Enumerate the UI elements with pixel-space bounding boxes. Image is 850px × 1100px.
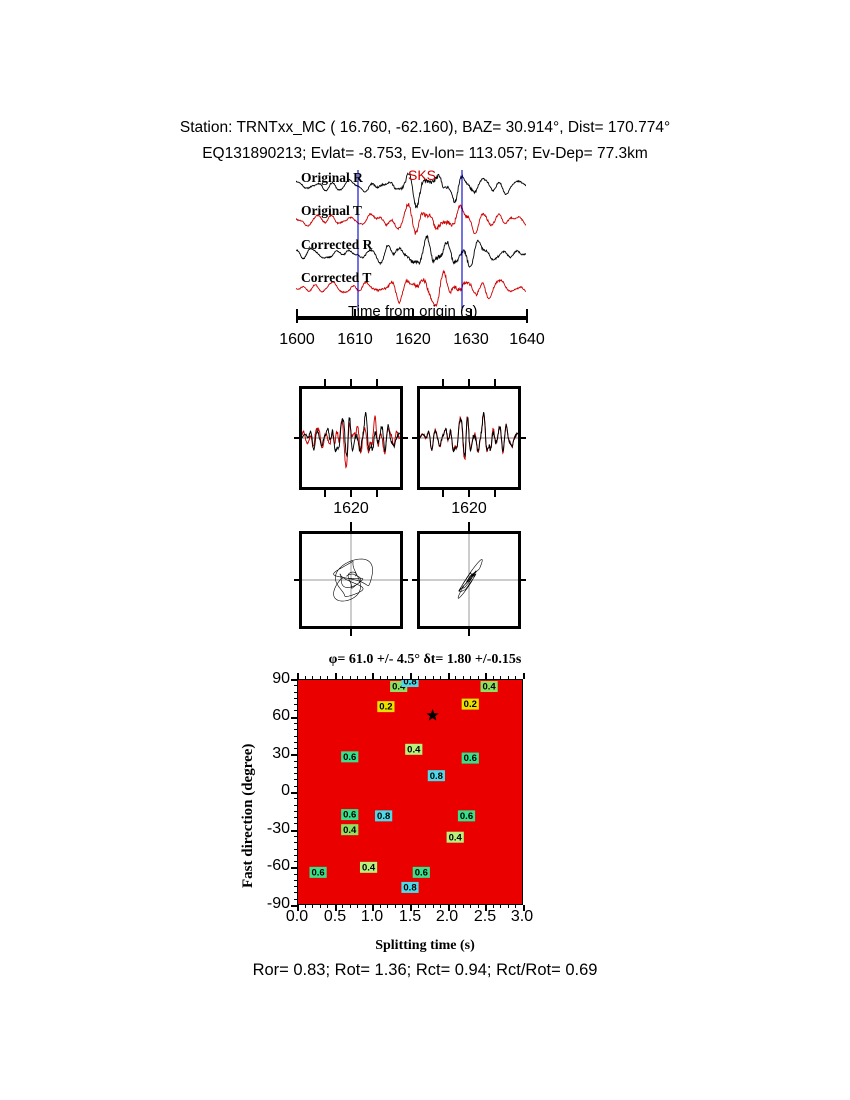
contour-axis-tick bbox=[433, 905, 434, 908]
contour-axis-tick bbox=[448, 905, 449, 908]
contour-axis-tick bbox=[294, 874, 297, 875]
time-axis-title: Time from origin (s) bbox=[348, 303, 477, 320]
panel-tick bbox=[519, 579, 526, 581]
trace-label-original-r: Original R bbox=[301, 170, 363, 186]
contour-axis-tick bbox=[335, 676, 336, 679]
xtick-30: 3.0 bbox=[500, 908, 544, 926]
contour-axis-tick bbox=[425, 905, 426, 908]
contour-axis-tick bbox=[294, 867, 297, 868]
panel-tick bbox=[324, 379, 326, 386]
splitting-analysis-figure: Station: TRNTxx_MC ( 16.760, -62.160), B… bbox=[0, 0, 850, 1100]
contour-axis-tick bbox=[485, 905, 486, 908]
panel-tick bbox=[376, 379, 378, 386]
contour-axis-tick bbox=[294, 830, 297, 831]
panel-tick bbox=[401, 579, 408, 581]
ytick-30: 30 bbox=[244, 745, 290, 763]
contour-axis-tick bbox=[320, 676, 321, 679]
contour-axis-tick bbox=[335, 905, 336, 908]
contour-axis-tick bbox=[463, 676, 464, 679]
contour-axis-tick bbox=[342, 905, 343, 908]
time-tick-1630: 1630 bbox=[447, 331, 495, 349]
contour-axis-tick bbox=[312, 676, 313, 679]
panel-tick bbox=[468, 524, 470, 531]
contour-axis-tick bbox=[493, 676, 494, 679]
contour-axis-tick bbox=[455, 676, 456, 679]
compare-label-right: 1620 bbox=[444, 500, 494, 518]
panel-tick bbox=[324, 490, 326, 497]
contour-axis-tick bbox=[357, 676, 358, 679]
panel-tick bbox=[350, 524, 352, 531]
contour-axis-tick bbox=[440, 676, 441, 679]
time-tick-1610: 1610 bbox=[331, 331, 379, 349]
panel-tick bbox=[294, 579, 301, 581]
contour-axis-tick bbox=[297, 905, 298, 908]
contour-axis-tick bbox=[294, 723, 297, 724]
station-info-line: Station: TRNTxx_MC ( 16.760, -62.160), B… bbox=[0, 119, 850, 137]
contour-axis-tick bbox=[294, 811, 297, 812]
trace-label-corrected-t: Corrected T bbox=[301, 270, 371, 286]
panel-tick bbox=[376, 490, 378, 497]
contour-axis-tick bbox=[515, 676, 516, 679]
contour-axis-tick bbox=[478, 676, 479, 679]
panel-tick bbox=[350, 629, 352, 636]
particle-motion-panel-left bbox=[299, 531, 403, 629]
sks-phase-label: SKS bbox=[408, 167, 436, 183]
contour-plot bbox=[297, 679, 523, 905]
compare-traces-right bbox=[420, 389, 518, 487]
panel-tick bbox=[350, 379, 352, 386]
panel-tick bbox=[442, 379, 444, 386]
contour-axis-tick bbox=[294, 779, 297, 780]
contour-axis-tick bbox=[305, 905, 306, 908]
contour-axis-tick bbox=[294, 805, 297, 806]
contour-surface bbox=[297, 679, 523, 905]
contour-axis-tick bbox=[387, 905, 388, 908]
contour-axis-tick bbox=[297, 676, 298, 679]
particle-motion-left bbox=[302, 534, 400, 626]
contour-axis-tick bbox=[380, 676, 381, 679]
contour-axis-tick bbox=[365, 676, 366, 679]
contour-axis-tick bbox=[380, 905, 381, 908]
compare-panel-right bbox=[417, 386, 521, 490]
contour-axis-tick bbox=[350, 905, 351, 908]
contour-axis-tick bbox=[294, 679, 297, 680]
contour-axis-tick bbox=[448, 676, 449, 679]
panel-tick bbox=[468, 379, 470, 386]
contour-axis-tick bbox=[440, 905, 441, 908]
ytick-neg60: -60 bbox=[244, 857, 290, 875]
particle-motion-panel-right bbox=[417, 531, 521, 629]
compare-panel-left bbox=[299, 386, 403, 490]
contour-axis-tick bbox=[294, 836, 297, 837]
panel-tick bbox=[412, 437, 419, 439]
panel-tick bbox=[468, 490, 470, 497]
panel-tick bbox=[494, 490, 496, 497]
contour-axis-tick bbox=[500, 676, 501, 679]
contour-axis-tick bbox=[294, 710, 297, 711]
contour-axis-tick bbox=[294, 685, 297, 686]
contour-axis-tick bbox=[372, 905, 373, 908]
contour-axis-tick bbox=[485, 676, 486, 679]
contour-axis-tick bbox=[294, 861, 297, 862]
contour-axis-tick bbox=[463, 905, 464, 908]
panel-tick bbox=[401, 437, 408, 439]
contour-axis-tick bbox=[327, 676, 328, 679]
panel-tick bbox=[494, 379, 496, 386]
contour-axis-tick bbox=[294, 817, 297, 818]
contour-axis-tick bbox=[418, 905, 419, 908]
contour-axis-tick bbox=[294, 849, 297, 850]
contour-axis-tick bbox=[410, 676, 411, 679]
contour-axis-tick bbox=[523, 905, 524, 908]
contour-axis-tick bbox=[294, 892, 297, 893]
trace-label-original-t: Original T bbox=[301, 203, 362, 219]
contour-axis-tick bbox=[294, 742, 297, 743]
ytick-neg30: -30 bbox=[244, 820, 290, 838]
ytick-90: 90 bbox=[244, 670, 290, 688]
contour-axis-tick bbox=[294, 823, 297, 824]
contour-axis-tick bbox=[294, 692, 297, 693]
contour-axis-tick bbox=[395, 905, 396, 908]
contour-axis-tick bbox=[294, 704, 297, 705]
contour-axis-tick bbox=[523, 676, 524, 679]
contour-axis-tick bbox=[294, 754, 297, 755]
contour-axis-tick bbox=[470, 905, 471, 908]
contour-axis-tick bbox=[455, 905, 456, 908]
contour-axis-tick bbox=[294, 842, 297, 843]
contour-axis-tick bbox=[294, 773, 297, 774]
compare-label-left: 1620 bbox=[326, 500, 376, 518]
contour-axis-tick bbox=[294, 786, 297, 787]
contour-axis-tick bbox=[294, 729, 297, 730]
contour-axis-tick bbox=[294, 886, 297, 887]
contour-axis-tick bbox=[342, 676, 343, 679]
contour-axis-tick bbox=[508, 676, 509, 679]
ytick-60: 60 bbox=[244, 707, 290, 725]
time-tick-1620: 1620 bbox=[389, 331, 437, 349]
contour-axis-tick bbox=[402, 905, 403, 908]
contour-axis-tick bbox=[327, 905, 328, 908]
contour-axis-tick bbox=[305, 676, 306, 679]
panel-tick bbox=[442, 490, 444, 497]
contour-axis-tick bbox=[294, 767, 297, 768]
contour-axis-tick bbox=[294, 880, 297, 881]
contour-axis-tick bbox=[312, 905, 313, 908]
contour-axis-tick bbox=[372, 676, 373, 679]
event-info-line: EQ131890213; Evlat= -8.753, Ev-lon= 113.… bbox=[0, 145, 850, 163]
contour-axis-tick bbox=[425, 676, 426, 679]
trace-label-corrected-r: Corrected R bbox=[301, 237, 372, 253]
contour-axis-tick bbox=[500, 905, 501, 908]
contour-axis-tick bbox=[294, 899, 297, 900]
contour-axis-tick bbox=[294, 748, 297, 749]
contour-axis-tick bbox=[470, 676, 471, 679]
contour-axis-tick bbox=[294, 792, 297, 793]
contour-axis-tick bbox=[395, 676, 396, 679]
panel-tick bbox=[350, 490, 352, 497]
contour-axis-tick bbox=[320, 905, 321, 908]
contour-axis-tick bbox=[410, 905, 411, 908]
contour-axis-tick bbox=[515, 905, 516, 908]
contour-axis-tick bbox=[418, 676, 419, 679]
contour-axis-tick bbox=[478, 905, 479, 908]
time-axis-tick bbox=[296, 309, 298, 323]
contour-axis-tick bbox=[387, 676, 388, 679]
time-tick-1640: 1640 bbox=[503, 331, 551, 349]
particle-motion-right bbox=[420, 534, 518, 626]
time-axis-tick bbox=[526, 309, 528, 323]
contour-axis-tick bbox=[294, 736, 297, 737]
panel-tick bbox=[519, 437, 526, 439]
contour-axis-tick bbox=[294, 761, 297, 762]
contour-axis-tick bbox=[350, 676, 351, 679]
time-tick-1600: 1600 bbox=[273, 331, 321, 349]
contour-axis-tick bbox=[294, 798, 297, 799]
contour-axis-tick bbox=[294, 855, 297, 856]
contour-axis-tick bbox=[365, 905, 366, 908]
contour-axis-tick bbox=[433, 676, 434, 679]
panel-tick bbox=[294, 437, 301, 439]
stats-line: Ror= 0.83; Rot= 1.36; Rct= 0.94; Rct/Rot… bbox=[0, 961, 850, 980]
contour-axis-tick bbox=[508, 905, 509, 908]
contour-title: φ= 61.0 +/- 4.5° δt= 1.80 +/-0.15s bbox=[0, 652, 850, 668]
contour-axis-tick bbox=[493, 905, 494, 908]
contour-axis-tick bbox=[294, 717, 297, 718]
panel-tick bbox=[412, 579, 419, 581]
contour-axis-tick bbox=[294, 698, 297, 699]
contour-axis-tick bbox=[402, 676, 403, 679]
panel-tick bbox=[468, 629, 470, 636]
contour-axis-tick bbox=[357, 905, 358, 908]
contour-xlabel: Splitting time (s) bbox=[0, 938, 850, 954]
compare-traces-left bbox=[302, 389, 400, 487]
ytick-0: 0 bbox=[244, 782, 290, 800]
